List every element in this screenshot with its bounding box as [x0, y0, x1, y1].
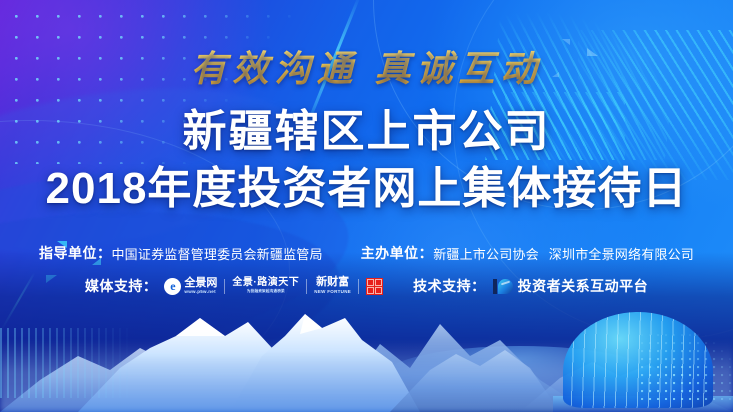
ir-globe-shape — [498, 279, 513, 294]
ir-letter-i — [493, 279, 497, 294]
logo-divider — [224, 279, 225, 294]
logo-p5w[interactable]: e 全景网 www.p5w.net — [164, 278, 217, 295]
p5w-swirl-icon: e — [164, 278, 181, 295]
equalizer-bars — [0, 328, 140, 398]
seal-glyph — [375, 287, 382, 294]
ir-letter-r — [498, 279, 513, 294]
organizer-unit: 主办单位： 新疆上市公司协会 深圳市全景网络有限公司 — [361, 243, 694, 263]
newfortune-name-cn: 新财富 — [316, 277, 349, 288]
guidance-unit: 指导单位： 中国证券监督管理委员会新疆监管局 — [39, 243, 323, 263]
tech-support-group: 技术支持： 投资者关系互动平台 — [413, 276, 648, 296]
convention-center-building — [549, 307, 733, 412]
organizer-value-1: 新疆上市公司协会 — [433, 244, 539, 263]
p5w-text: 全景网 www.p5w.net — [184, 278, 217, 295]
p5w-name: 全景网 — [184, 278, 217, 289]
logo-divider — [358, 279, 359, 294]
title-line-1: 新疆辖区上市公司 — [0, 95, 733, 159]
seal-glyph — [375, 279, 382, 286]
event-banner: 有效沟通真诚互动 新疆辖区上市公司 2018年度投资者网上集体接待日 指导单位：… — [0, 0, 733, 412]
guidance-label: 指导单位： — [39, 243, 112, 263]
seal-glyph — [367, 287, 374, 294]
organizer-label: 主办单位： — [361, 243, 434, 263]
roadshow-subtitle: 为投融资架起沟通桥梁 — [247, 290, 285, 294]
slogan-calligraphy: 有效沟通真诚互动 — [0, 40, 733, 92]
title-line-2: 2018年度投资者网上集体接待日 — [0, 152, 733, 216]
slogan-part2: 真诚互动 — [375, 49, 543, 89]
logo-roadshow[interactable]: 全景·路演天下 为投融资架起沟通桥梁 — [232, 278, 299, 294]
roadshow-name: 全景·路演天下 — [232, 278, 299, 288]
media-support-group: 媒体支持： e 全景网 www.p5w.net 全景·路演天下 为投融资架起沟通… — [85, 276, 383, 296]
dome-dot-pattern — [641, 334, 733, 400]
media-support-label: 媒体支持： — [85, 276, 158, 296]
ir-logo-icon[interactable] — [493, 279, 513, 294]
guidance-value: 中国证券监督管理委员会新疆监管局 — [111, 244, 322, 263]
logo-red-seal[interactable] — [366, 278, 383, 295]
organizer-value-2: 深圳市全景网络有限公司 — [549, 244, 694, 263]
newfortune-name-en: NEW FORTUNE — [314, 290, 351, 295]
p5w-mark-letter: e — [170, 280, 175, 292]
p5w-url: www.p5w.net — [184, 290, 217, 295]
logo-new-fortune[interactable]: 新财富 NEW FORTUNE — [314, 277, 351, 295]
seal-glyph — [367, 279, 374, 286]
tech-support-value: 投资者关系互动平台 — [518, 276, 649, 296]
credits-row-1: 指导单位： 中国证券监督管理委员会新疆监管局 主办单位： 新疆上市公司协会 深圳… — [0, 243, 733, 263]
credits-row-2: 媒体支持： e 全景网 www.p5w.net 全景·路演天下 为投融资架起沟通… — [0, 276, 733, 296]
slogan-part1: 有效沟通 — [190, 49, 358, 89]
tech-support-label: 技术支持： — [413, 276, 486, 296]
logo-divider — [306, 279, 307, 294]
credits-block: 指导单位： 中国证券监督管理委员会新疆监管局 主办单位： 新疆上市公司协会 深圳… — [0, 243, 733, 296]
